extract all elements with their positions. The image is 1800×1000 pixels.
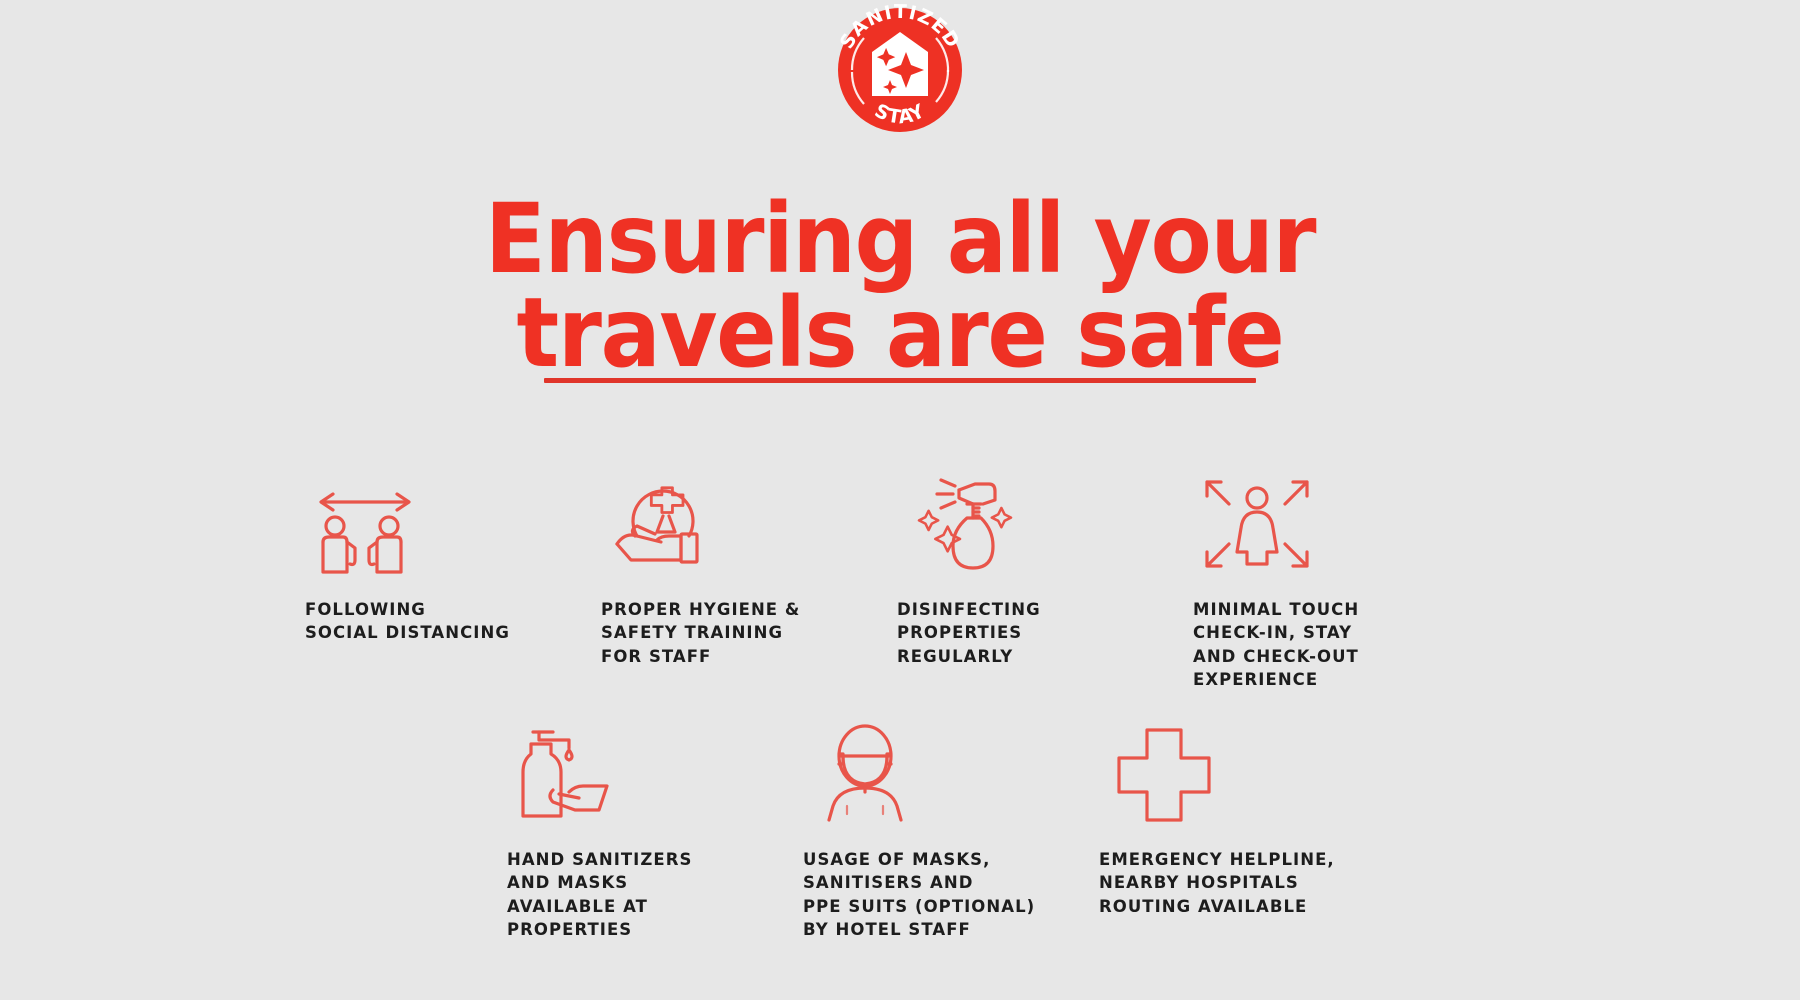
person-face-mask-icon [803,720,927,824]
feature-label: PROPER HYGIENE & SAFETY TRAINING FOR STA… [601,598,800,668]
feature-label: USAGE OF MASKS, SANITISERS AND PPE SUITS… [803,848,1035,942]
medical-cross-icon [1099,720,1223,824]
sanitizer-dispenser-hand-icon [507,720,631,824]
sanitized-stay-badge: SANITIZED STAY [820,0,980,152]
feature-hand-sanitizers: HAND SANITIZERS AND MASKS AVAILABLE AT P… [507,720,803,942]
feature-label: EMERGENCY HELPLINE, NEARBY HOSPITALS ROU… [1099,848,1335,918]
person-expand-arrows-icon [1193,470,1317,574]
feature-label: DISINFECTING PROPERTIES REGULARLY [897,598,1041,668]
features-section: FOLLOWING SOCIAL DISTANCING PROPER HYGIE… [0,470,1800,941]
feature-label: MINIMAL TOUCH CHECK-IN, STAY AND CHECK-O… [1193,598,1359,692]
feature-hygiene-training: PROPER HYGIENE & SAFETY TRAINING FOR STA… [601,470,897,668]
feature-social-distancing: FOLLOWING SOCIAL DISTANCING [305,470,601,645]
badge-container: SANITIZED STAY [0,0,1800,152]
features-row-2: HAND SANITIZERS AND MASKS AVAILABLE AT P… [102,720,1800,942]
feature-disinfecting: DISINFECTING PROPERTIES REGULARLY [897,470,1193,668]
page-title-line-1: Ensuring all your [63,192,1737,286]
hand-holding-medical-cross-icon [601,470,725,574]
feature-label: FOLLOWING SOCIAL DISTANCING [305,598,510,645]
divider-container [0,378,1800,383]
feature-masks-ppe: USAGE OF MASKS, SANITISERS AND PPE SUITS… [803,720,1099,942]
page-title: Ensuring all your travels are safe [0,192,1800,380]
title-divider [544,378,1256,383]
sanitized-stay-badge-icon: SANITIZED STAY [820,0,980,152]
spray-bottle-sparkle-icon [897,470,1021,574]
feature-label: HAND SANITIZERS AND MASKS AVAILABLE AT P… [507,848,692,942]
feature-emergency-helpline: EMERGENCY HELPLINE, NEARBY HOSPITALS ROU… [1099,720,1395,918]
features-row-1: FOLLOWING SOCIAL DISTANCING PROPER HYGIE… [0,470,1800,692]
page-title-line-2: travels are safe [63,286,1737,380]
social-distancing-icon [305,470,429,574]
feature-minimal-touch: MINIMAL TOUCH CHECK-IN, STAY AND CHECK-O… [1193,470,1489,692]
